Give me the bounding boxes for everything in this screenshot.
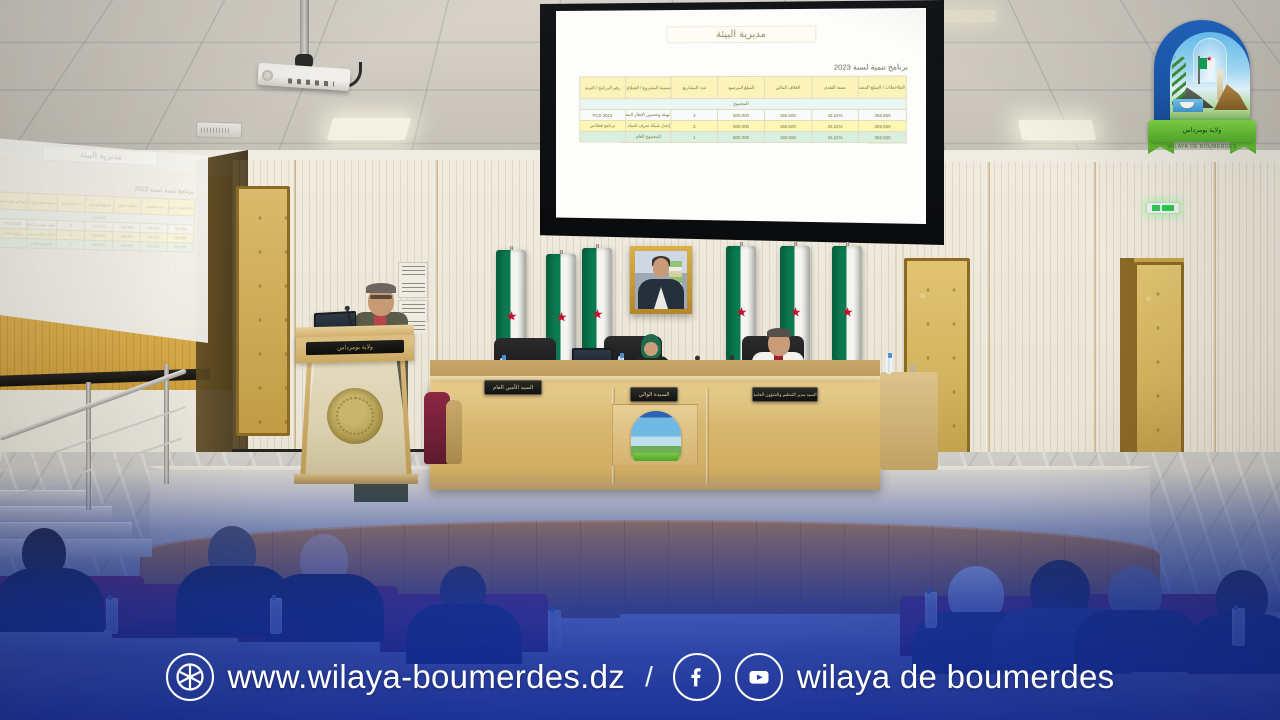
door-tufting	[239, 189, 287, 433]
ceiling-light	[1018, 120, 1096, 140]
table-row: 355.555 43.22% 156.500 500.000 1 المجموع…	[580, 131, 907, 143]
nameplate-wali: السيدة الوالي	[630, 387, 678, 402]
podium-nameplate: ولاية بومرداس	[306, 340, 404, 355]
panel-emblem-icon	[631, 411, 681, 457]
cell	[580, 131, 626, 142]
cell: 355.555	[859, 132, 907, 143]
portrait-head	[653, 258, 669, 277]
cell: برنامج قطاعي	[580, 120, 626, 131]
cell: 1	[56, 239, 85, 249]
portrait-image	[635, 251, 687, 309]
cell: 156.500	[764, 132, 811, 143]
wilaya-boumerdes-emblem: ولاية بومرداس WILAYA DE BOUMERDES	[1146, 16, 1258, 164]
table-row: 355.555 43.22% 156.500 500.000 2 إنجاز ش…	[580, 120, 907, 131]
person-hair	[767, 328, 791, 337]
band-label: المجموع	[580, 98, 907, 109]
emblem-flag-icon	[1199, 58, 1215, 69]
cell: 156.500	[764, 109, 811, 120]
nameplate-secretary-general: السيد الأمين العام	[484, 380, 542, 395]
panel-emblem-ribbon	[633, 453, 679, 461]
presentation-slide: مديرية البيئة برنامج تنمية لسنة 2023 الم…	[559, 8, 926, 224]
cell: 355.555	[859, 121, 907, 132]
wall-projection-content: مديرية البيئة برنامج تنمية لسنة 2023 الم…	[0, 124, 211, 344]
footer-separator: /	[645, 661, 653, 693]
side-chair[interactable]	[446, 400, 462, 464]
col-head: تسمية المشروع / القطاع	[28, 193, 57, 211]
col-head: نسبة التقدم	[141, 198, 168, 215]
table-header-row: الملاحظات / المبلغ المستهلك نسبة التقدم …	[580, 76, 907, 99]
cell: 355.555	[167, 242, 194, 252]
table-row: 355.555 43.22% 156.500 500.000 2 تهيئة و…	[580, 109, 907, 120]
wall-seam	[1092, 162, 1096, 462]
col-head: الملاحظات / المبلغ المستهلك	[168, 199, 195, 216]
col-head: المبلغ المرصود	[718, 76, 765, 98]
cell: 156.500	[112, 241, 140, 251]
water-bottle	[106, 598, 118, 634]
speaker-hair	[366, 283, 396, 293]
cell: 1	[671, 131, 717, 142]
panel-divider	[706, 388, 709, 484]
cell: 500.000	[718, 120, 765, 131]
wall-speaker	[196, 121, 243, 139]
col-head: الغلاف المالي	[764, 76, 811, 98]
cell: 156.500	[764, 121, 811, 132]
stair-step	[0, 490, 92, 506]
nameplate-executive: السيد مدير التنظيم والشؤون العامة	[752, 387, 818, 402]
ceiling-light	[327, 118, 411, 140]
led-display-surface[interactable]: مديرية البيئة برنامج تنمية لسنة 2023 الم…	[556, 8, 926, 224]
col-head: تسمية المشروع / القطاع	[625, 77, 671, 99]
door-tufting	[1137, 265, 1181, 453]
wall-seam	[986, 162, 990, 462]
col-head: رقم البرنامج / السنة	[0, 192, 29, 210]
wall-seam	[1212, 162, 1216, 462]
railing-post	[86, 382, 91, 510]
water-bottle	[925, 592, 937, 628]
col-head: عدد المشاريع	[57, 194, 86, 212]
projection-slide-table: الملاحظات / المبلغ المستهلك نسبة التقدم …	[0, 191, 195, 252]
panel-front-emblem-plate	[612, 404, 698, 466]
water-bottle	[886, 356, 892, 374]
cell: 43.22%	[811, 109, 858, 120]
exit-sign-icon	[1146, 202, 1180, 214]
door-right-2[interactable]	[1134, 262, 1184, 456]
cell: المجموع العام	[27, 239, 56, 249]
facebook-icon[interactable]	[673, 653, 721, 701]
screenshot-root: مديرية البيئة برنامج تنمية لسنة 2023 الم…	[0, 0, 1280, 720]
slide-subtitle: برنامج تنمية لسنة 2023	[572, 62, 907, 72]
door-left[interactable]	[236, 186, 290, 436]
cell: 500.000	[718, 131, 765, 142]
emblem-shield	[1154, 20, 1250, 126]
col-head: الغلاف المالي	[113, 197, 141, 214]
youtube-icon[interactable]	[735, 653, 783, 701]
cell: 43.22%	[140, 242, 167, 252]
col-head: المبلغ المرصود	[85, 195, 113, 213]
cell	[0, 238, 27, 248]
globe-icon[interactable]	[166, 653, 214, 701]
col-head: عدد المشاريع	[671, 77, 717, 99]
wall-seam	[292, 160, 296, 460]
algerian-flag: ★	[832, 246, 862, 364]
cell: إنجاز شبكة صرف المياه القذرة	[625, 120, 671, 131]
stair-step	[0, 522, 132, 539]
cell: 500.000	[84, 240, 112, 250]
president-portrait-frame	[630, 246, 692, 314]
railing-post	[164, 364, 169, 484]
side-desk	[880, 372, 938, 470]
audience-shoulders	[0, 568, 104, 632]
slide-table: الملاحظات / المبلغ المستهلك نسبة التقدم …	[579, 76, 907, 144]
col-head: رقم البرنامج / السنة	[580, 77, 626, 99]
person-face	[644, 342, 658, 356]
cell: المجموع العام	[625, 131, 671, 142]
emblem-ribbon-text-ar: ولاية بومرداس	[1183, 127, 1222, 134]
exit-glyph	[1162, 205, 1174, 211]
podium-base	[294, 474, 418, 484]
social-handle[interactable]: wilaya de boumerdes	[797, 658, 1115, 696]
emblem-scene	[1170, 32, 1250, 124]
cell: 355.555	[859, 109, 907, 120]
cell: 2	[671, 110, 717, 121]
cell: تهيئة وتحسين الإطار المعيشي	[625, 110, 671, 121]
col-head: الملاحظات / المبلغ المستهلك	[859, 76, 907, 98]
audience-shoulders	[266, 574, 384, 642]
table-band-row: المجموع	[580, 98, 907, 109]
cell: PCD 2023	[580, 110, 626, 121]
stair-step	[0, 506, 112, 522]
water-bottle	[270, 598, 282, 634]
podium-seal-emblem	[327, 388, 383, 444]
footer-branding-bar: www.wilaya-boumerdes.dz / wilaya de boum…	[0, 634, 1280, 720]
projector-mount-pole	[300, 0, 309, 62]
speaker-glasses-icon	[370, 295, 392, 299]
ceiling-light	[940, 10, 996, 22]
wall-projection-screen: مديرية البيئة برنامج تنمية لسنة 2023 الم…	[0, 138, 208, 343]
cell: 2	[671, 120, 717, 131]
emblem-ribbon-text-fr: WILAYA DE BOUMERDES	[1146, 144, 1258, 150]
flag-fold	[832, 246, 862, 364]
cell: 500.000	[718, 109, 765, 120]
cell: 43.22%	[811, 132, 858, 143]
cell: 43.22%	[811, 121, 858, 132]
website-url[interactable]: www.wilaya-boumerdes.dz	[228, 658, 626, 696]
slide-title: مديرية البيئة	[667, 25, 817, 43]
col-head: نسبة التقدم	[811, 76, 858, 98]
emblem-ribbon: ولاية بومرداس	[1148, 120, 1256, 142]
exit-glyph	[1152, 205, 1160, 211]
